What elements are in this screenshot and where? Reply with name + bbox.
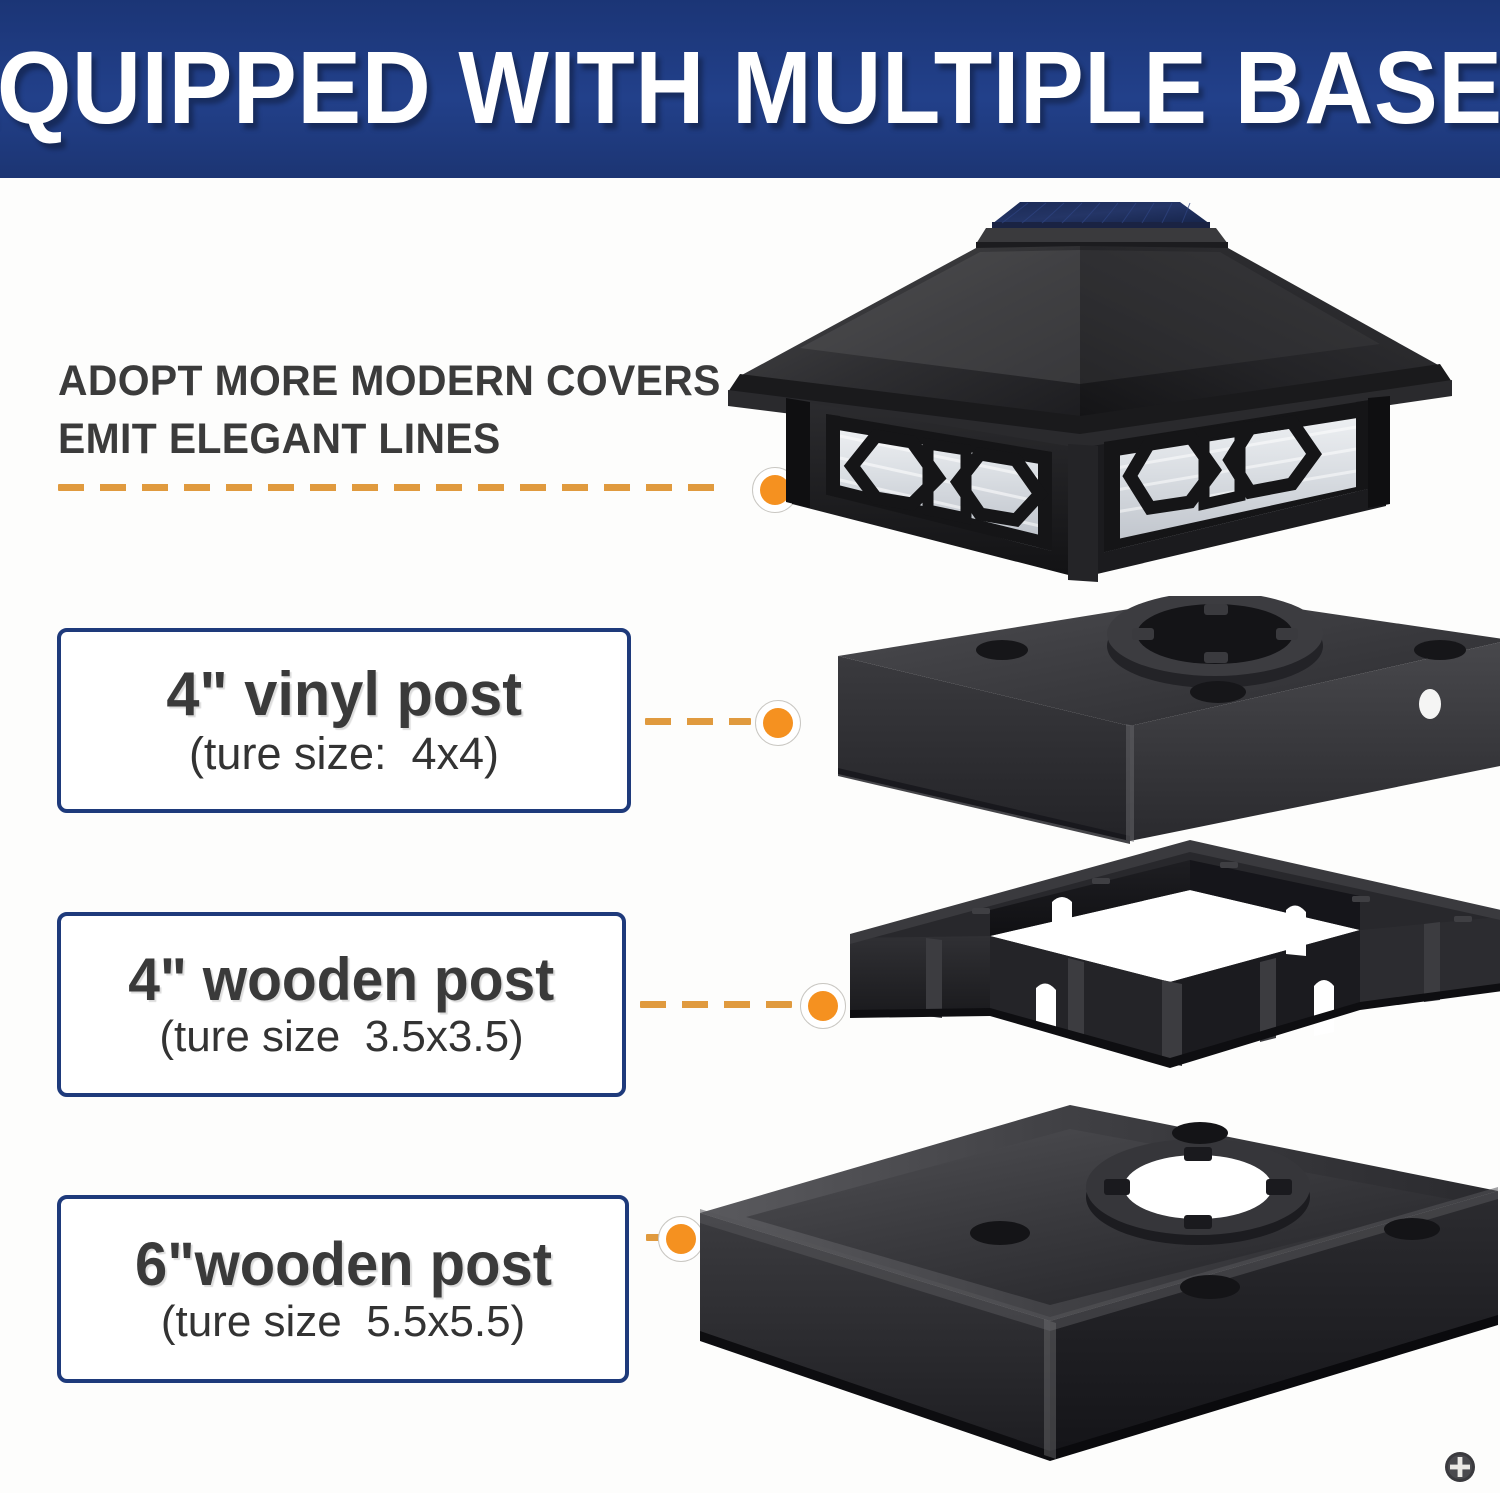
leader-line-covers (58, 484, 730, 491)
headline-block: ADOPT MORE MODERN COVERS EMIT ELEGANT LI… (58, 352, 758, 468)
callout-wooden-post-6: 6"wooden post (ture size 5.5x5.5) (57, 1195, 629, 1383)
callout-wooden-post-6-subtitle: (ture size 5.5x5.5) (161, 1299, 525, 1345)
leader-line-wooden-post-4 (640, 1001, 792, 1008)
orange-dot-icon-vinyl-post (755, 700, 801, 746)
headline-line-1: ADOPT MORE MODERN COVERS (58, 352, 723, 410)
header-banner: EQUIPPED WITH MULTIPLE BASES (0, 0, 1500, 178)
solar-post-cap-light-image (680, 186, 1500, 586)
wooden-post-6-base-plate-image (670, 1105, 1500, 1493)
callout-vinyl-post: 4" vinyl post (ture size: 4x4) (57, 628, 631, 813)
callout-vinyl-post-subtitle: (ture size: 4x4) (189, 730, 499, 777)
headline-line-2: EMIT ELEGANT LINES (58, 410, 723, 468)
callout-wooden-post-4: 4" wooden post (ture size 3.5x3.5) (57, 912, 626, 1097)
callout-vinyl-post-title: 4" vinyl post (166, 663, 522, 726)
wooden-post-adapter-frame-image (840, 838, 1500, 1128)
banner-title: EQUIPPED WITH MULTIPLE BASES (0, 36, 1500, 139)
leader-line-vinyl-post (645, 718, 751, 725)
callout-wooden-post-4-title: 4" wooden post (128, 949, 554, 1010)
product-infographic: EQUIPPED WITH MULTIPLE BASES ADOPT MORE … (0, 0, 1500, 1493)
callout-wooden-post-4-subtitle: (ture size 3.5x3.5) (159, 1014, 523, 1060)
callout-wooden-post-6-title: 6"wooden post (134, 1233, 551, 1295)
